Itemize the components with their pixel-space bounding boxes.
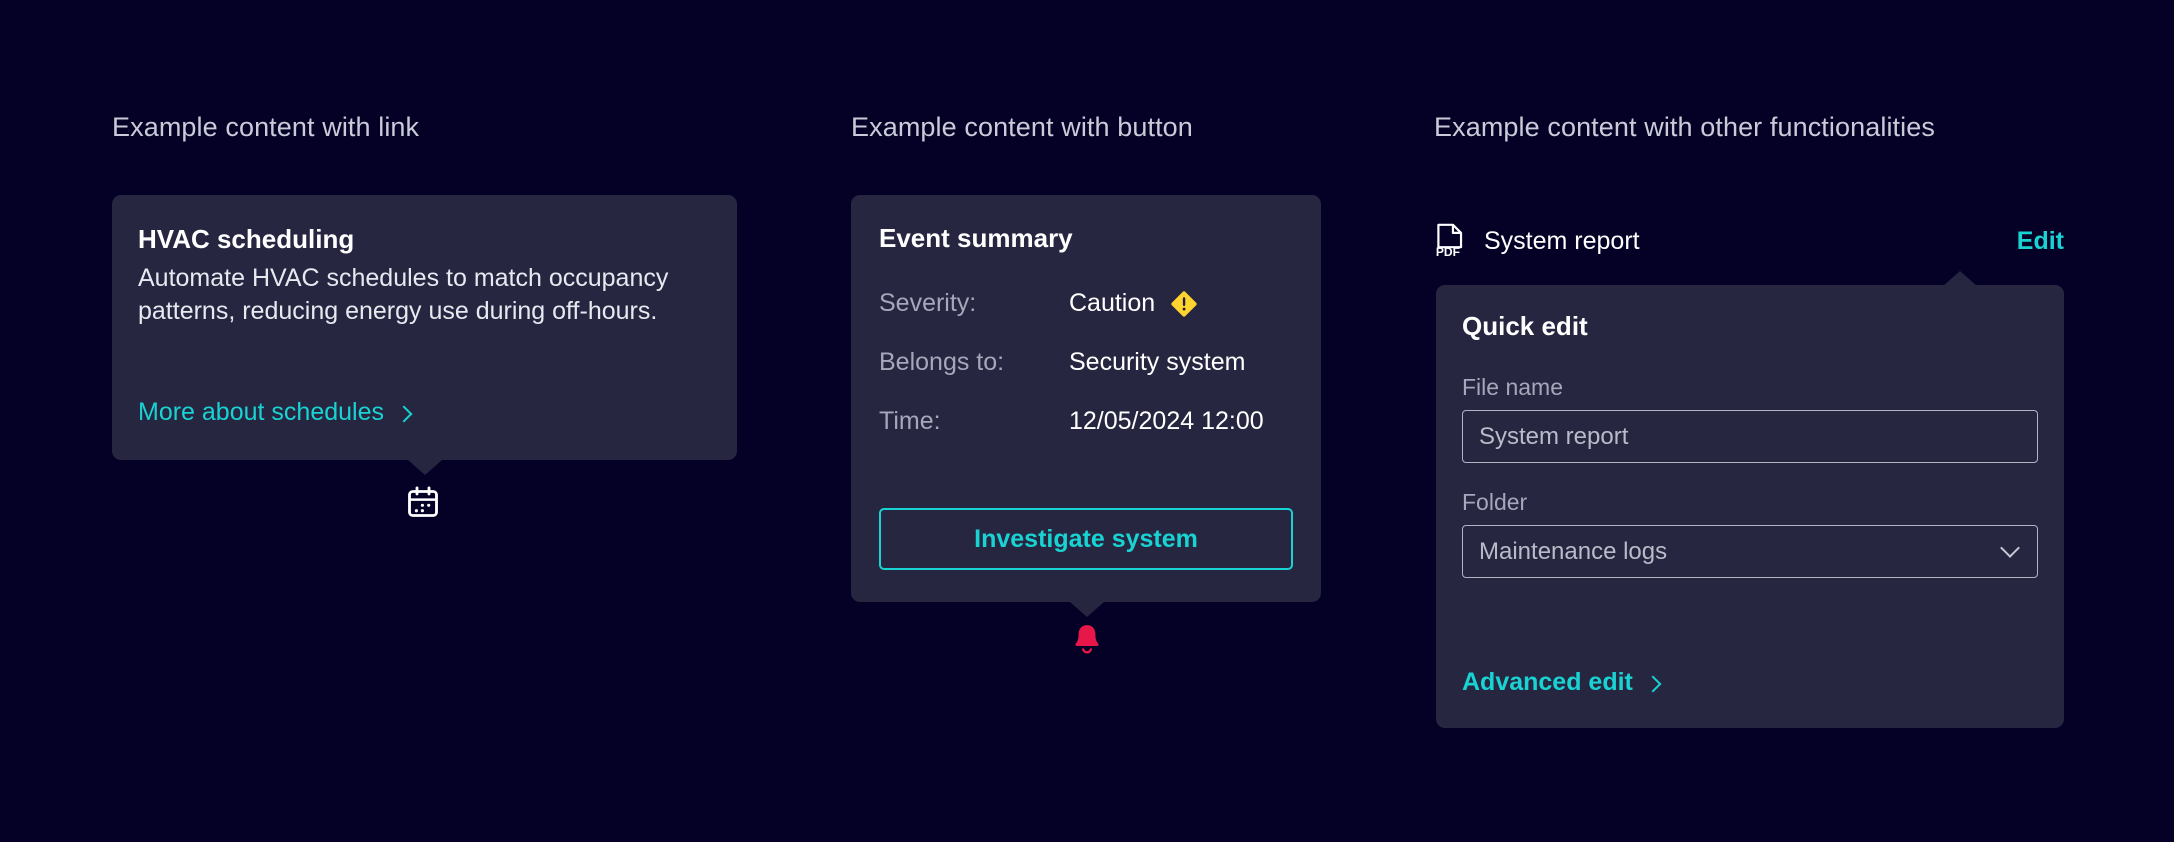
event-card-title: Event summary (879, 223, 1293, 254)
hvac-card-title: HVAC scheduling (138, 223, 711, 256)
quick-edit-title: Quick edit (1462, 311, 2038, 342)
file-name-field-group: File name System report (1462, 374, 2038, 463)
system-report-row: PDF System report Edit (1434, 220, 2064, 262)
bell-icon[interactable] (1068, 620, 1106, 658)
pdf-file-icon: PDF (1434, 223, 1468, 259)
file-name-label: File name (1462, 374, 2038, 401)
severity-value: Caution (1069, 289, 1155, 318)
calendar-icon[interactable] (405, 484, 441, 520)
advanced-edit-label: Advanced edit (1462, 668, 1633, 697)
edit-button[interactable]: Edit (2017, 227, 2064, 256)
caution-icon (1169, 289, 1199, 319)
hvac-card-body: Automate HVAC schedules to match occupan… (138, 262, 723, 329)
chevron-right-icon (1644, 675, 1661, 692)
folder-select[interactable]: Maintenance logs (1462, 525, 2038, 578)
investigate-system-button[interactable]: Investigate system (879, 508, 1293, 570)
belongs-to-value: Security system (1069, 348, 1245, 377)
hvac-tooltip-pointer (408, 460, 442, 475)
page-root: Example content with link Example conten… (0, 0, 2174, 842)
more-about-schedules-link[interactable]: More about schedules (138, 398, 410, 427)
quick-edit-popover-pointer (1943, 271, 1977, 286)
folder-value: Maintenance logs (1479, 538, 1667, 566)
hvac-scheduling-card: HVAC scheduling Automate HVAC schedules … (112, 195, 737, 460)
time-key: Time: (879, 407, 1069, 436)
advanced-edit-link[interactable]: Advanced edit (1462, 668, 1659, 697)
time-value: 12/05/2024 12:00 (1069, 407, 1264, 436)
event-tooltip-pointer (1070, 602, 1104, 617)
event-row-severity: Severity: Caution (879, 288, 1293, 318)
more-about-schedules-label: More about schedules (138, 398, 384, 427)
column-heading-link: Example content with link (112, 112, 419, 143)
file-name-input[interactable]: System report (1462, 410, 2038, 463)
system-report-name: System report (1484, 227, 2017, 256)
event-row-belongs-to: Belongs to: Security system (879, 348, 1293, 377)
severity-value-group: Caution (1069, 288, 1199, 318)
svg-text:PDF: PDF (1436, 245, 1460, 259)
severity-key: Severity: (879, 289, 1069, 318)
file-name-value: System report (1479, 423, 1628, 451)
column-heading-button: Example content with button (851, 112, 1193, 143)
folder-label: Folder (1462, 489, 2038, 516)
quick-edit-popover: Quick edit File name System report Folde… (1436, 285, 2064, 728)
folder-field-group: Folder Maintenance logs (1462, 489, 2038, 578)
event-summary-card: Event summary Severity: Caution Belongs … (851, 195, 1321, 602)
chevron-right-icon (395, 405, 412, 422)
chevron-down-icon (2000, 538, 2020, 558)
column-heading-other: Example content with other functionaliti… (1434, 112, 1935, 143)
belongs-to-key: Belongs to: (879, 348, 1069, 377)
event-row-time: Time: 12/05/2024 12:00 (879, 407, 1293, 436)
